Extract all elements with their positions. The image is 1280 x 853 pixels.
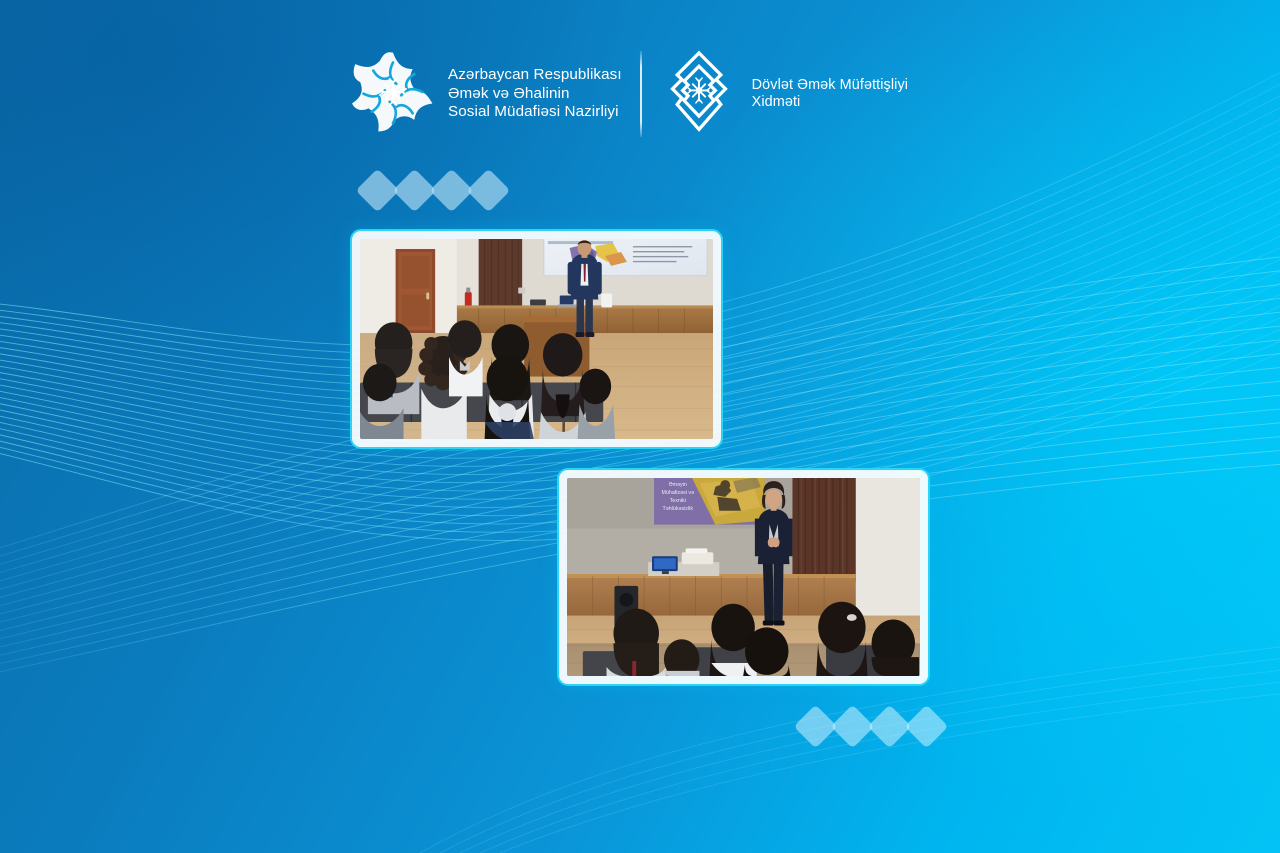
decorative-diamond [905,705,949,749]
decorative-diamond [868,705,912,749]
azerbaijan-eight-point-star-emblem-icon [352,50,434,139]
service-line-2: Xidməti [752,94,908,111]
decorative-diamond [393,169,437,213]
decorative-diamond-row-top [362,175,504,206]
svg-text:Mühafizəsi və: Mühafizəsi və [661,490,694,496]
header-logos: Azərbaycan Respublikası Əmək və Əhalinin… [352,44,908,144]
ministry-line-1: Azərbaycan Respublikası [448,66,622,85]
ministry-brand: Azərbaycan Respublikası Əmək və Əhalinin… [352,50,622,139]
service-brand: Dövlət Əmək Müfəttişliyi Xidməti [660,49,908,140]
photo-frame-2: Əməyin Mühafizəsi və Texniki Təhlükəsizl… [557,468,930,686]
svg-text:Əməyin: Əməyin [669,482,687,488]
service-line-1: Dövlət Əmək Müfəttişliyi [752,77,908,94]
svg-text:Texniki: Texniki [670,498,686,504]
decorative-diamond [794,705,838,749]
decorative-diamond-row-bottom [800,711,942,742]
photo-2: Əməyin Mühafizəsi və Texniki Təhlükəsizl… [567,478,920,676]
photo-frame-1 [350,229,723,449]
logo-divider [640,51,642,137]
decorative-diamond [467,169,511,213]
decorative-diamond [430,169,474,213]
ministry-line-3: Sosial Müdafiəsi Nazirliyi [448,103,622,122]
ministry-name: Azərbaycan Respublikası Əmək və Əhalinin… [448,66,622,122]
decorative-diamond [831,705,875,749]
ministry-line-2: Əmək və Əhalinin [448,85,622,104]
photo-1 [360,239,713,439]
state-labour-inspection-diamond-emblem-icon [660,49,738,140]
decorative-diamond [356,169,400,213]
announcement-card: Azərbaycan Respublikası Əmək və Əhalinin… [0,0,1280,853]
service-name: Dövlət Əmək Müfəttişliyi Xidməti [752,77,908,112]
svg-text:Təhlükəsizlik: Təhlükəsizlik [662,506,693,512]
